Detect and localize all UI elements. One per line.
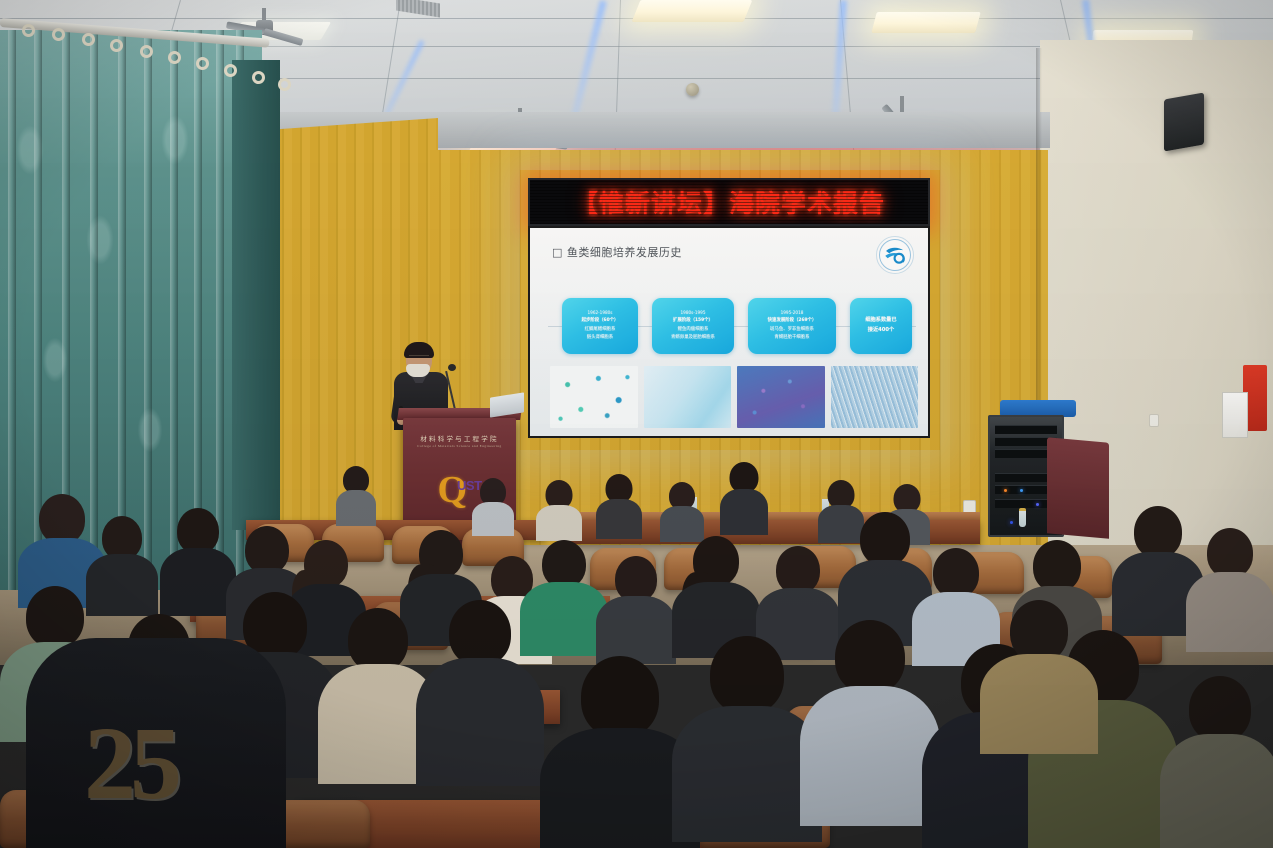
audience-member <box>416 600 544 780</box>
wall-outlet[interactable] <box>1149 414 1159 427</box>
audience-member <box>980 600 1098 750</box>
audience-member <box>800 620 940 820</box>
led-banner-text: 【惟新讲坛】海院学术报告 <box>573 184 885 220</box>
timeline-stage-1: 1962-1980s 起步阶段（60个） 红鲫尾鳍细胞系 鲢头肾细胞系 <box>562 298 638 354</box>
micrograph-pale-cells <box>644 366 732 428</box>
face-mask <box>406 364 430 377</box>
audience-member <box>1160 676 1273 848</box>
timeline-summary: 细胞系数量已 接近400个 <box>850 298 912 354</box>
timeline-stage-2: 1980s-1995 扩展阶段（159个） 鲤鱼肉瘤细胞系 青鳉卵巢及胚胎细胞系 <box>652 298 734 354</box>
projection-screen: □ 鱼类细胞培养发展历史 1962-1980s 起步阶段（60个） 红鲫尾鳍细胞… <box>528 226 930 438</box>
ceiling-light <box>632 0 753 22</box>
curtain-grommet <box>224 64 237 77</box>
micrograph-row <box>550 366 918 428</box>
audience-member <box>660 482 704 540</box>
audience-member <box>720 462 768 534</box>
smoke-detector <box>686 83 699 96</box>
wall-mounted-speaker <box>1164 92 1204 151</box>
micrograph-fibroblast-streaks <box>831 366 919 428</box>
slide-heading: □ 鱼类细胞培养发展历史 <box>552 244 682 260</box>
micrograph-dense-blue-cells <box>737 366 825 428</box>
curtain-grommet <box>110 39 123 52</box>
microphone-head <box>448 364 456 371</box>
lecture-hall-photo: 【惟新讲坛】海院学术报告 □ 鱼类细胞培养发展历史 1962-1980s 起步阶 <box>0 0 1273 848</box>
timeline-stage-3: 1995-2018 快速发展阶段（269个） 斑马鱼、罗非鱼细胞系 青鳉胚胎干细… <box>748 298 836 354</box>
podium-plate-english: College of Materials Science and Enginee… <box>417 444 501 448</box>
audience-member <box>596 556 676 660</box>
curtain-grommet <box>82 33 95 46</box>
audience-member <box>536 480 582 540</box>
audience-member <box>472 478 514 534</box>
curtain-grommet <box>22 24 35 37</box>
curtain-grommet <box>278 78 291 91</box>
presentation-slide: □ 鱼类细胞培养发展历史 1962-1980s 起步阶段（60个） 红鲫尾鳍细胞… <box>530 228 928 436</box>
ceiling-light <box>871 12 981 33</box>
window-curtain <box>232 60 280 530</box>
curtain-grommet <box>140 45 153 58</box>
audience-member <box>596 474 642 538</box>
jacket-graphic-25: 25 <box>84 712 244 822</box>
ocean-wave-circular-logo <box>876 236 914 274</box>
curtain-grommet <box>196 57 209 70</box>
audience-member <box>336 466 376 524</box>
ceiling-vent <box>396 0 440 17</box>
wall-control-panel[interactable] <box>1222 392 1248 438</box>
curtain-grommet <box>252 71 265 84</box>
curtain-grommet <box>52 28 65 41</box>
curtain-grommet <box>168 51 181 64</box>
podium-nameplate: 材料科学与工程学院 College of Materials Science a… <box>409 428 510 452</box>
audience-member <box>1186 528 1273 648</box>
slide-timeline: 1962-1980s 起步阶段（60个） 红鲫尾鳍细胞系 鲢头肾细胞系 1980… <box>548 298 918 356</box>
led-banner: 【惟新讲坛】海院学术报告 <box>528 178 930 226</box>
micrograph-green-cells <box>550 366 638 428</box>
podium-plate-chinese: 材料科学与工程学院 <box>420 433 498 443</box>
water-bottle <box>1019 508 1026 527</box>
spare-lectern <box>1047 437 1109 538</box>
